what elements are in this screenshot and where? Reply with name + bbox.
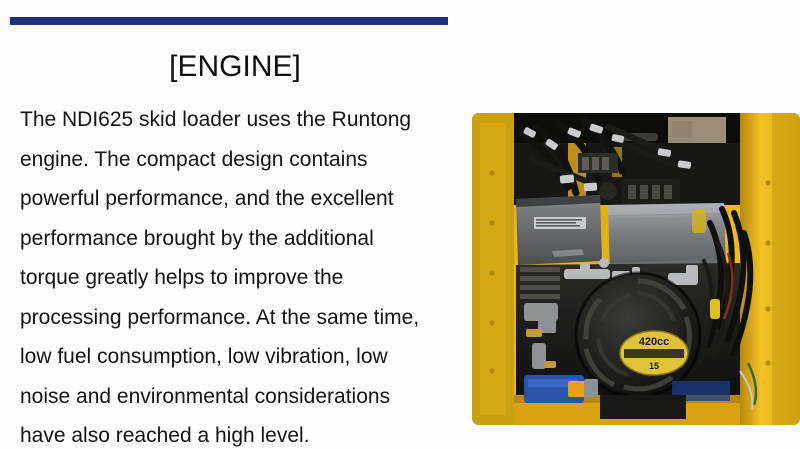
body-line: have also reached a high level. [20, 416, 460, 449]
body-line: performance brought by the additional [20, 219, 460, 259]
body-line: noise and environmental considerations [20, 377, 460, 417]
body-paragraph: The NDI625 skid loader uses the Runtong … [20, 100, 460, 449]
engine-photo: 420cc 15 [472, 113, 800, 425]
body-line: torque greatly helps to improve the [20, 258, 460, 298]
svg-text:420cc: 420cc [639, 336, 670, 348]
engine-photo-artwork: 420cc 15 [472, 113, 800, 425]
body-line: The NDI625 skid loader uses the Runtong [20, 100, 460, 140]
svg-text:15: 15 [649, 361, 659, 371]
body-line: engine. The compact design contains [20, 140, 460, 180]
slide-canvas: [ENGINE] The NDI625 skid loader uses the… [0, 0, 800, 449]
body-line: powerful performance, and the excellent [20, 179, 460, 219]
accent-bar [10, 17, 448, 25]
body-line: processing performance. At the same time… [20, 298, 460, 338]
body-line: low fuel consumption, low vibration, low [20, 337, 460, 377]
page-title: [ENGINE] [20, 48, 450, 86]
